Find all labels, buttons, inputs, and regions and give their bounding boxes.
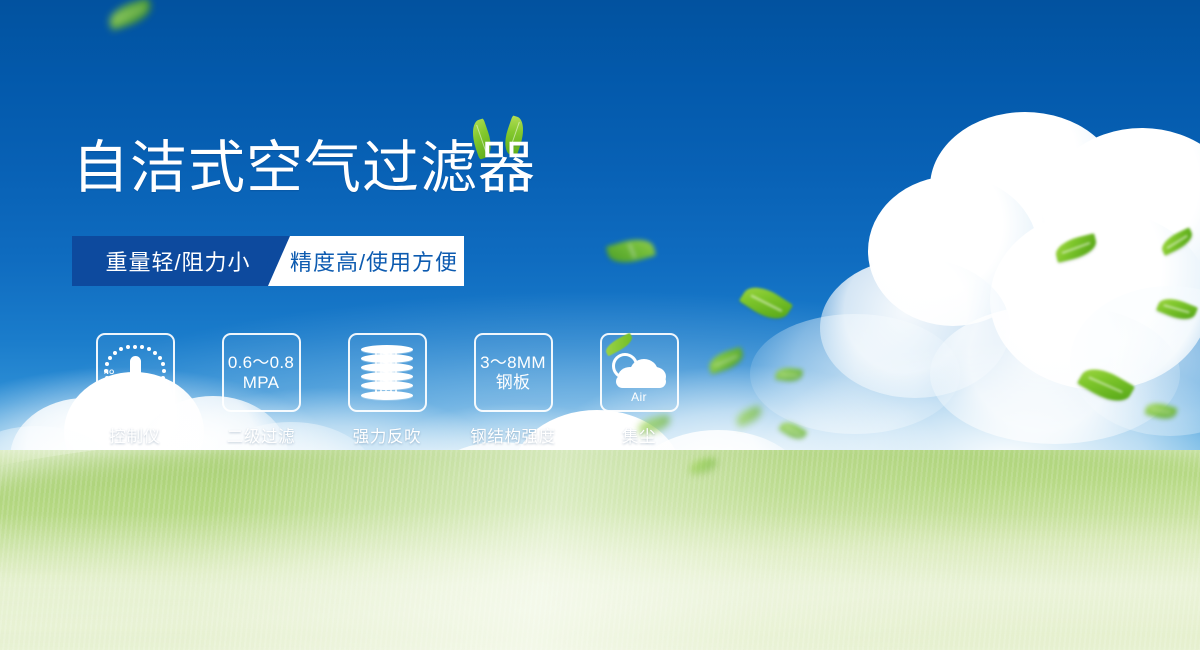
gauge-icon: NO OFF	[103, 341, 167, 405]
feature-icon-box: NO OFF	[96, 333, 175, 412]
feature-item-control-gauge[interactable]: NO OFF 控制仪	[72, 333, 198, 447]
pressure-value-line2: MPA	[228, 373, 294, 393]
feature-icon-box: 3〜8MM 钢板	[474, 333, 553, 412]
leaf-icon	[603, 332, 635, 356]
subtitle-left-panel: 重量轻/阻力小	[72, 236, 284, 286]
air-label: Air	[608, 390, 670, 404]
page-title: 自洁式空气过滤器	[72, 140, 536, 197]
subtitle-right-panel: 精度高/使用方便	[268, 236, 464, 286]
gauge-no-label: NO	[104, 369, 115, 376]
feature-item-steel-strength[interactable]: 3〜8MM 钢板 钢结构强度	[450, 333, 576, 447]
gauge-off-label: OFF	[151, 391, 165, 398]
steel-value-line1: 3〜8MM	[480, 353, 546, 373]
subtitle-bar: 重量轻/阻力小 精度高/使用方便	[72, 236, 464, 286]
feature-label: 二级过滤	[227, 423, 295, 447]
hero-banner: 自洁式空气过滤器 重量轻/阻力小 精度高/使用方便	[0, 0, 1200, 650]
pressure-text-icon: 0.6〜0.8 MPA	[228, 353, 294, 392]
cloud-base	[616, 375, 666, 388]
subtitle-left-text: 重量轻/阻力小	[105, 245, 250, 277]
feature-icon-box: 0.6〜0.8 MPA	[222, 333, 301, 412]
filter-stack-icon	[361, 345, 413, 401]
air-cloud-icon: Air	[608, 345, 670, 401]
banner-content: 自洁式空气过滤器 重量轻/阻力小 精度高/使用方便	[0, 0, 1200, 650]
feature-label: 集尘	[622, 423, 656, 447]
feature-item-two-stage-filter[interactable]: 0.6〜0.8 MPA 二级过滤	[198, 333, 324, 447]
feature-item-dust-collection[interactable]: Air 集尘	[576, 333, 702, 447]
feature-icon-box: Air	[600, 333, 679, 412]
feature-label: 强力反吹	[353, 423, 421, 447]
feature-item-reverse-blow[interactable]: 强力反吹	[324, 333, 450, 447]
steel-plate-text-icon: 3〜8MM 钢板	[480, 353, 546, 392]
feature-list: NO OFF 控制仪 0.6〜0.8 MPA 二级过滤	[72, 333, 702, 447]
pressure-value-line1: 0.6〜0.8	[228, 353, 294, 373]
feature-label: 钢结构强度	[470, 423, 556, 447]
feature-label: 控制仪	[109, 423, 160, 447]
feature-icon-box	[348, 333, 427, 412]
subtitle-right-text: 精度高/使用方便	[290, 245, 458, 277]
gauge-needle-icon	[130, 356, 141, 392]
steel-value-line2: 钢板	[480, 373, 546, 393]
